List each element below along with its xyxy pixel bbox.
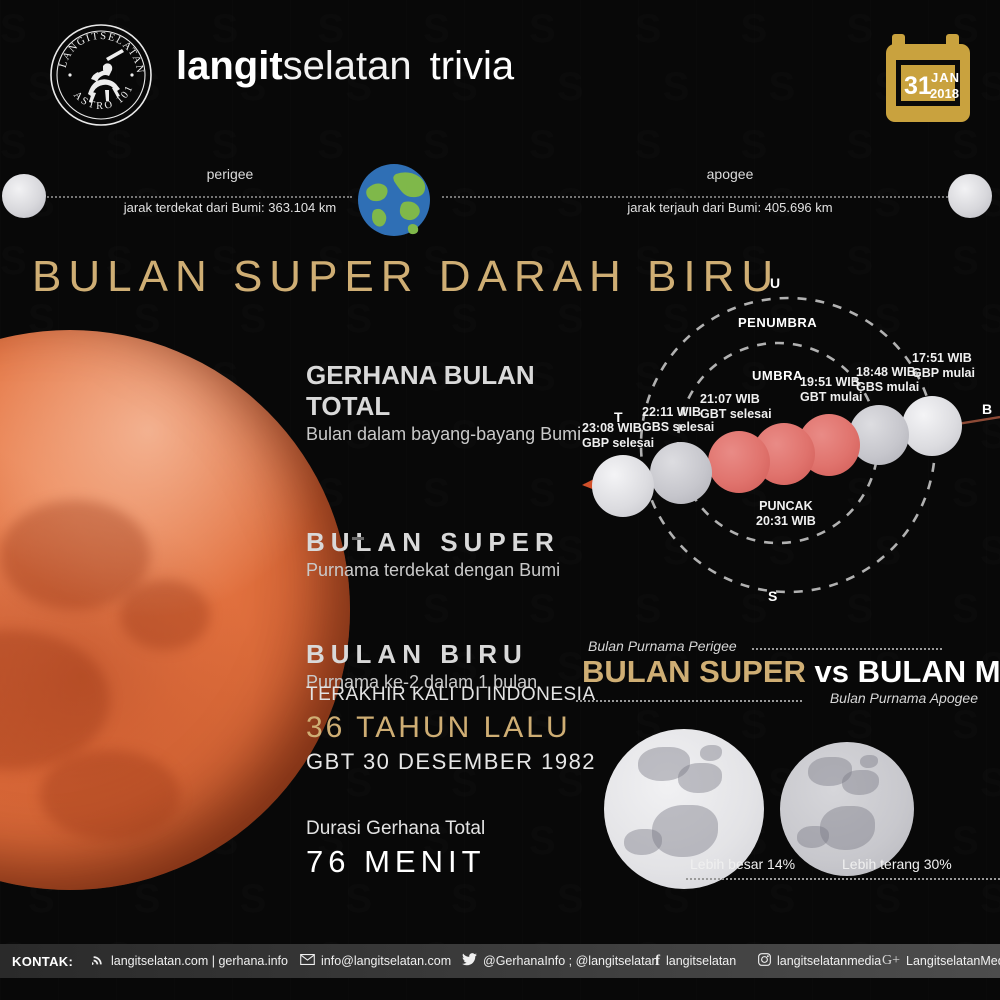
apogee-moon-icon — [948, 174, 992, 218]
band-dotted-line-left — [40, 196, 352, 198]
brand-wordmark: langitselatantrivia — [176, 44, 514, 88]
phase-label-1951: 19:51 WIB GBT mulai — [800, 375, 863, 405]
caption-bigger: Lebih besar 14% — [690, 856, 795, 872]
footer-item-facebook[interactable]: f langitselatan — [655, 944, 736, 978]
vs-dotted-line-bottom — [576, 700, 802, 702]
peak-label: PUNCAK 20:31 WIB — [756, 499, 816, 529]
phase-event: GBS selesai — [642, 420, 714, 435]
infographic-canvas: S S S S S S S S S S S S S S S S S S S S … — [0, 0, 1000, 1000]
phase-event: GBP selesai — [582, 436, 654, 451]
footer-item-label: LangitselatanMedia — [906, 954, 1000, 968]
perigee-apogee-band — [0, 150, 1000, 242]
band-dotted-line-right — [442, 196, 976, 198]
phase-time: 18:48 WIB — [856, 365, 919, 380]
google-plus-icon: G+ — [882, 954, 900, 968]
calendar-month: JAN — [931, 70, 960, 85]
cardinal-north: U — [770, 275, 780, 291]
phase-label-2107: 21:07 WIB GBT selesai — [700, 392, 772, 422]
penumbra-label: PENUMBRA — [738, 315, 817, 330]
brand-part-2: selatan — [283, 44, 412, 88]
calendar-date-badge: 31 JAN 2018 — [884, 30, 972, 126]
email-icon — [300, 954, 315, 968]
apogee-title: apogee — [630, 166, 830, 182]
caption-brighter: Lebih terang 30% — [842, 856, 952, 872]
footer-item-website[interactable]: langitselatan.com | gerhana.info — [92, 944, 288, 978]
eclipse-moon-2107 — [708, 431, 770, 493]
contact-footer-bar: KONTAK: langitselatan.com | gerhana.info… — [0, 944, 1000, 978]
facebook-icon: f — [655, 954, 660, 969]
phase-label-1848: 18:48 WIB GBS mulai — [856, 365, 919, 395]
peak-title: PUNCAK — [756, 499, 816, 514]
phase-event: GBT selesai — [700, 407, 772, 422]
rss-icon — [92, 953, 105, 969]
twitter-icon — [462, 953, 477, 969]
supermoon-vs-minimoon-section: Bulan Purnama Perigee BULAN SUPER vs BUL… — [560, 634, 1000, 894]
phase-time: 21:07 WIB — [700, 392, 772, 407]
calendar-day: 31 — [904, 72, 932, 100]
langitselatan-logo-seal: LANGITSELATAN ASTRO 101 — [48, 22, 154, 128]
phase-time: 19:51 WIB — [800, 375, 863, 390]
brand-part-3: trivia — [430, 44, 514, 88]
eclipse-moon-2308 — [592, 455, 654, 517]
footer-item-label: info@langitselatan.com — [321, 954, 451, 968]
footer-item-label: @GerhanaInfo ; @langitselatan — [483, 954, 658, 968]
perigee-distance: jarak terdekat dari Bumi: 363.104 km — [60, 200, 400, 215]
phase-event: GBS mulai — [856, 380, 919, 395]
kontak-label: KONTAK: — [12, 944, 73, 978]
decorative-dash — [352, 537, 364, 540]
footer-item-instagram[interactable]: langitselatanmedia — [758, 944, 881, 978]
vs-dotted-line-top — [752, 648, 942, 650]
calendar-year: 2018 — [930, 86, 959, 101]
footer-item-label: langitselatanmedia — [777, 954, 881, 968]
svg-text:LANGITSELATAN: LANGITSELATAN — [58, 31, 145, 75]
header: LANGITSELATAN ASTRO 101 — [0, 0, 1000, 150]
eclipse-moon-2211 — [650, 442, 712, 504]
cardinal-south: S — [768, 588, 777, 604]
eclipse-path-diagram: U S T B PENUMBRA UMBRA 23:08 WIB GBP sel… — [560, 275, 1000, 615]
eclipse-moon-1751 — [902, 396, 962, 456]
perigee-title: perigee — [120, 166, 340, 182]
phase-time: 17:51 WIB — [912, 351, 975, 366]
comparison-dotted-line — [686, 878, 1000, 880]
comparison-captions: Lebih besar 14% Lebih terang 30% — [690, 856, 1000, 884]
cardinal-east: B — [982, 401, 992, 417]
footer-item-googleplus[interactable]: G+ LangitselatanMedia — [882, 944, 1000, 978]
footer-item-twitter[interactable]: @GerhanaInfo ; @langitselatan — [462, 944, 658, 978]
vs-title-white: vs BULAN MINI — [806, 654, 1000, 689]
blood-moon-illustration — [0, 330, 350, 890]
apogee-distance: jarak terjauh dari Bumi: 405.696 km — [560, 200, 900, 215]
vs-title-gold: BULAN SUPER — [582, 654, 806, 689]
umbra-label: UMBRA — [752, 368, 803, 383]
phase-event: GBP mulai — [912, 366, 975, 381]
footer-item-label: langitselatan — [666, 954, 736, 968]
phase-event: GBT mulai — [800, 390, 863, 405]
footer-item-label: langitselatan.com | gerhana.info — [111, 954, 288, 968]
instagram-icon — [758, 953, 771, 969]
svg-text:ASTRO 101: ASTRO 101 — [71, 82, 136, 112]
footer-item-email[interactable]: info@langitselatan.com — [300, 944, 451, 978]
brand-part-1: langit — [176, 44, 283, 88]
phase-label-1751: 17:51 WIB GBP mulai — [912, 351, 975, 381]
peak-time: 20:31 WIB — [756, 514, 816, 529]
perigee-caption: Bulan Purnama Perigee — [588, 638, 737, 654]
vs-title: BULAN SUPER vs BULAN MINI — [582, 654, 1000, 690]
perigee-moon-icon — [2, 174, 46, 218]
apogee-caption: Bulan Purnama Apogee — [830, 690, 978, 706]
